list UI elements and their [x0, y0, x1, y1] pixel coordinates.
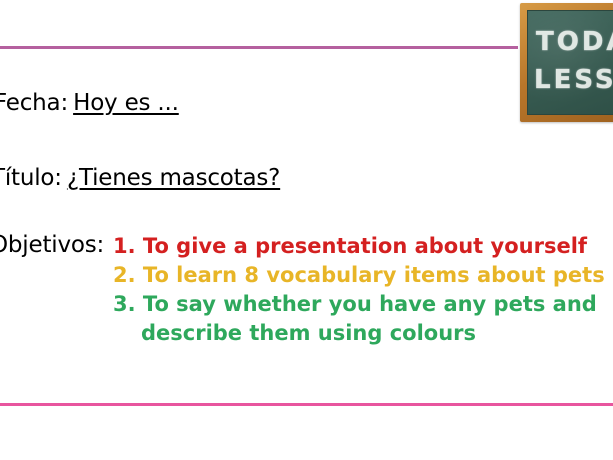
objective-3-number: 3.	[113, 292, 136, 316]
presentation-slide: TODA LESS Fecha: Hoy es ... Título: ¿Tie…	[0, 0, 613, 460]
chalkboard-image: TODA LESS	[520, 3, 613, 122]
objective-2-text: To learn 8 vocabulary items about pets	[143, 263, 605, 287]
objective-2-number: 2.	[113, 263, 136, 287]
chalkboard-surface: TODA LESS	[527, 10, 613, 115]
chalkboard-line-1: TODA	[536, 25, 613, 59]
fecha-label: Fecha:	[0, 90, 68, 116]
objective-1-number: 1.	[113, 234, 136, 258]
titulo-label: Título:	[0, 165, 62, 191]
fecha-value: Hoy es ...	[73, 90, 179, 116]
objective-1-text: To give a presentation about yourself	[143, 234, 587, 258]
fecha-row: Fecha: Hoy es ...	[0, 90, 179, 116]
objective-item-2: 2. To learn 8 vocabulary items about pet…	[113, 261, 605, 290]
titulo-row: Título: ¿Tienes mascotas?	[0, 165, 280, 191]
objetivos-list: 1. To give a presentation about yourself…	[113, 232, 605, 348]
chalkboard-line-2: LESS	[534, 63, 613, 97]
objetivos-label: Objetivos:	[0, 232, 104, 258]
objective-item-1: 1. To give a presentation about yourself	[113, 232, 605, 261]
objective-3-text: To say whether you have any pets and	[143, 292, 597, 316]
objective-item-3: 3. To say whether you have any pets and	[113, 290, 605, 319]
objective-item-3-continued: describe them using colours	[113, 319, 605, 348]
titulo-value: ¿Tienes mascotas?	[67, 165, 280, 191]
objetivos-row: Objetivos:	[0, 232, 104, 258]
top-divider-rule	[0, 46, 518, 49]
bottom-divider-rule	[0, 403, 613, 406]
